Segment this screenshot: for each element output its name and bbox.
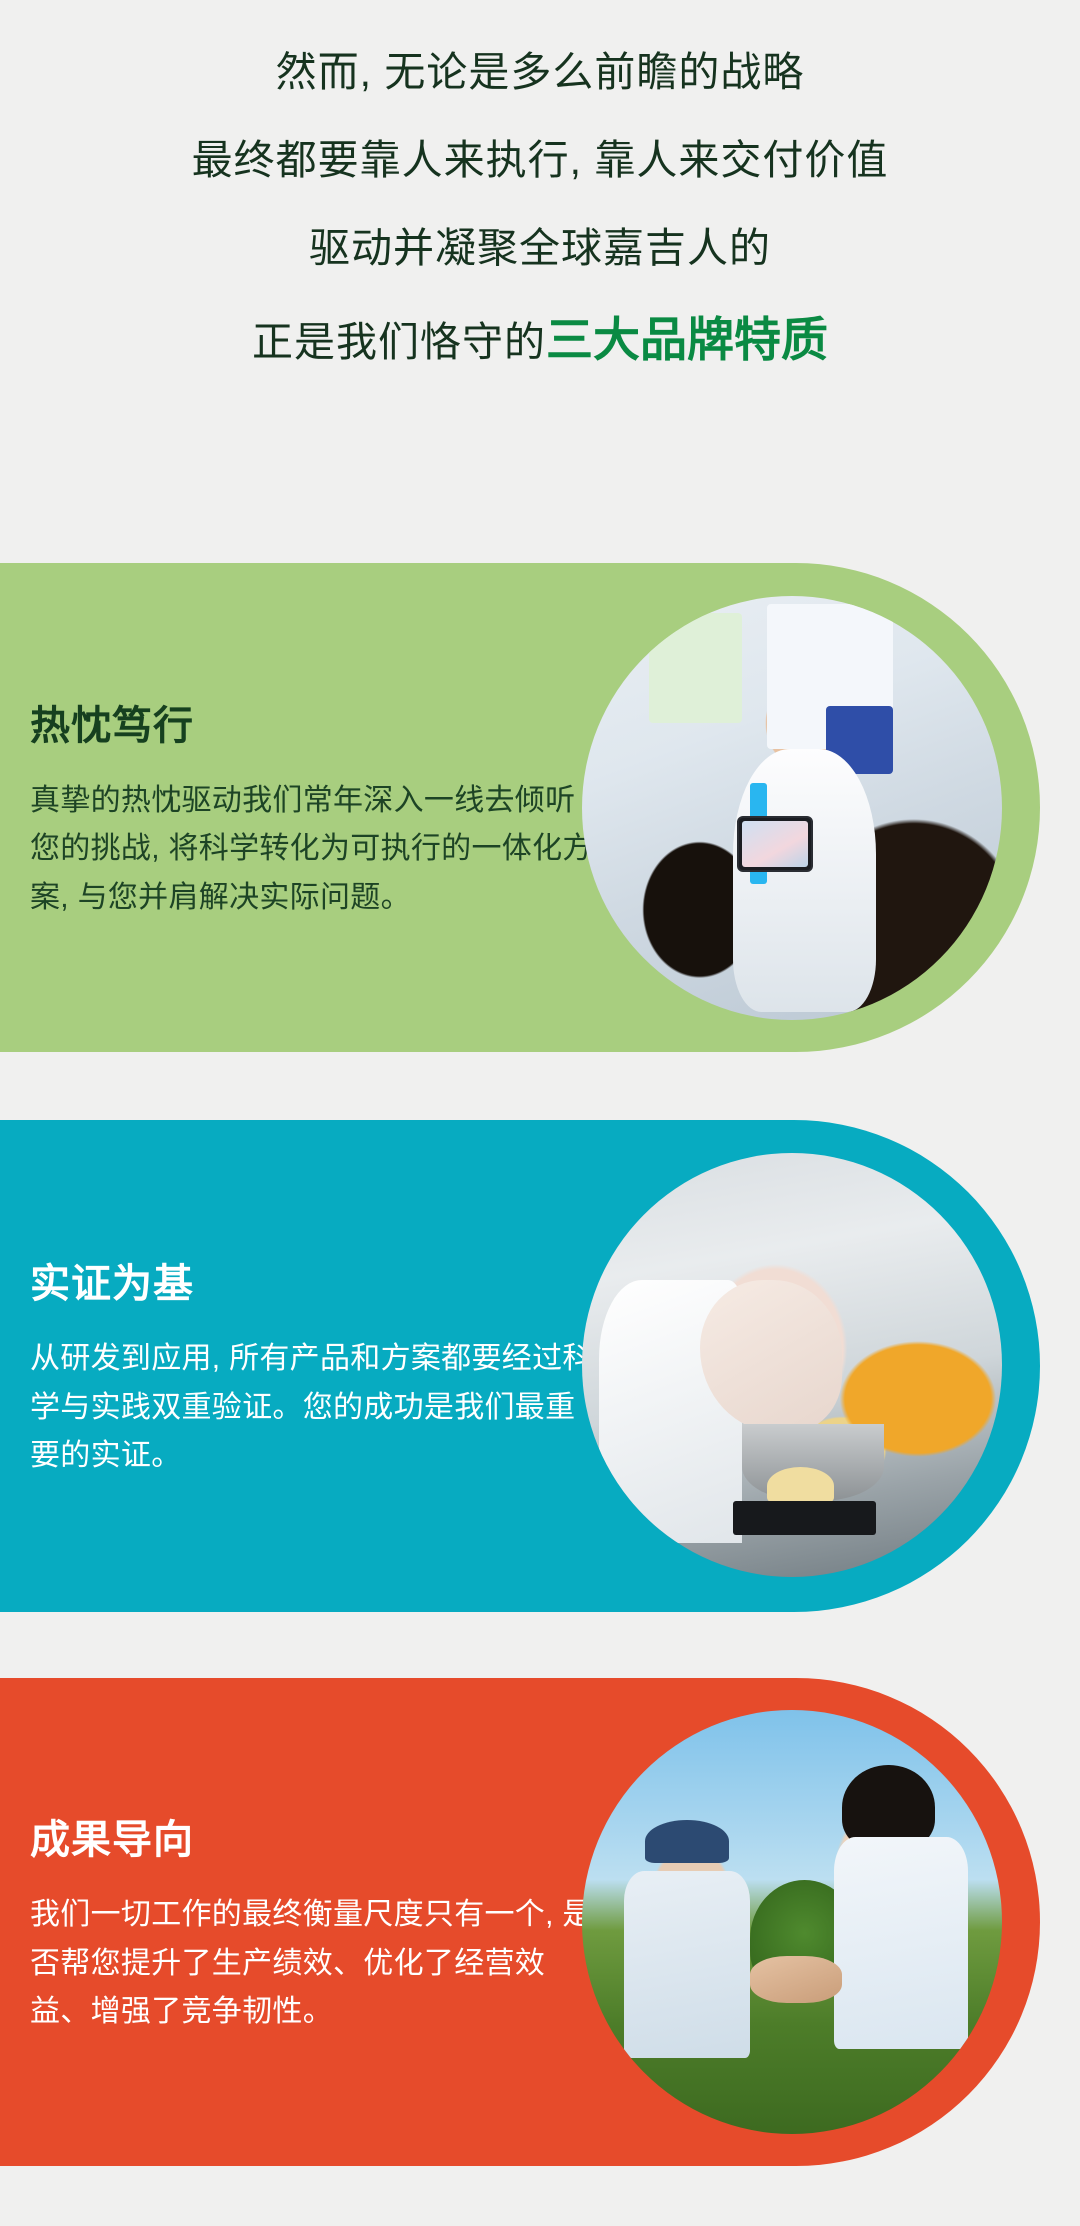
card-inner: 成果导向 我们一切工作的最终衡量尺度只有一个, 是否帮您提升了生产绩效、优化了经… (0, 1678, 1040, 2166)
card-text-block: 热忱笃行 真挚的热忱驱动我们常年深入一线去倾听您的挑战, 将科学转化为可执行的一… (30, 563, 600, 1052)
card-title: 热忱笃行 (30, 693, 600, 751)
photo-handshake (750, 1956, 842, 2003)
headline-line-3: 驱动并凝聚全球嘉吉人的 (309, 228, 771, 269)
trait-card-2: 实证为基 从研发到应用, 所有产品和方案都要经过科学与实践双重验证。您的成功是我… (0, 1120, 1040, 1612)
headline-accent-text: 三大品牌特质 (546, 313, 828, 366)
photo-phone (737, 816, 813, 871)
photo-shirt-left (624, 1871, 750, 2058)
photo-phone-screen (742, 821, 808, 866)
poster-page: 然而, 无论是多么前瞻的战略 最终都要靠人来执行, 靠人来交付价值 驱动并凝聚全… (0, 0, 1080, 2226)
card-photo-lab (582, 1153, 1002, 1577)
photo-scale (733, 1501, 876, 1535)
photo-shirt-right (834, 1837, 968, 2049)
card-text-block: 成果导向 我们一切工作的最终衡量尺度只有一个, 是否帮您提升了生产绩效、优化了经… (30, 1678, 600, 2166)
card-inner: 热忱笃行 真挚的热忱驱动我们常年深入一线去倾听您的挑战, 将科学转化为可执行的一… (0, 563, 1040, 1052)
headline-line-4: 正是我们恪守的三大品牌特质 (252, 316, 828, 363)
card-photo-outreach (582, 596, 1002, 1020)
trait-card-1: 热忱笃行 真挚的热忱驱动我们常年深入一线去倾听您的挑战, 将科学转化为可执行的一… (0, 563, 1040, 1052)
headline-line-4-prefix: 正是我们恪守的 (252, 319, 546, 365)
card-body: 我们一切工作的最终衡量尺度只有一个, 是否帮您提升了生产绩效、优化了经营效益、增… (30, 1891, 600, 2037)
card-photo-handshake (582, 1710, 1002, 2134)
headline-line-2: 最终都要靠人来执行, 靠人来交付价值 (192, 140, 889, 181)
trait-card-3: 成果导向 我们一切工作的最终衡量尺度只有一个, 是否帮您提升了生产绩效、优化了经… (0, 1678, 1040, 2166)
card-body: 真挚的热忱驱动我们常年深入一线去倾听您的挑战, 将科学转化为可执行的一体化方案,… (30, 777, 600, 923)
photo-corn-powder (767, 1467, 834, 1505)
card-title: 成果导向 (30, 1807, 600, 1865)
card-title: 实证为基 (30, 1251, 600, 1309)
headline-block: 然而, 无论是多么前瞻的战略 最终都要靠人来执行, 靠人来交付价值 驱动并凝聚全… (0, 0, 1080, 520)
photo-blue-cap (645, 1820, 729, 1862)
photo-backdrop-panel (649, 613, 741, 723)
card-inner: 实证为基 从研发到应用, 所有产品和方案都要经过科学与实践双重验证。您的成功是我… (0, 1120, 1040, 1612)
headline-line-1: 然而, 无论是多么前瞻的战略 (276, 52, 805, 93)
card-body: 从研发到应用, 所有产品和方案都要经过科学与实践双重验证。您的成功是我们最重要的… (30, 1335, 600, 1481)
card-text-block: 实证为基 从研发到应用, 所有产品和方案都要经过科学与实践双重验证。您的成功是我… (30, 1120, 600, 1612)
